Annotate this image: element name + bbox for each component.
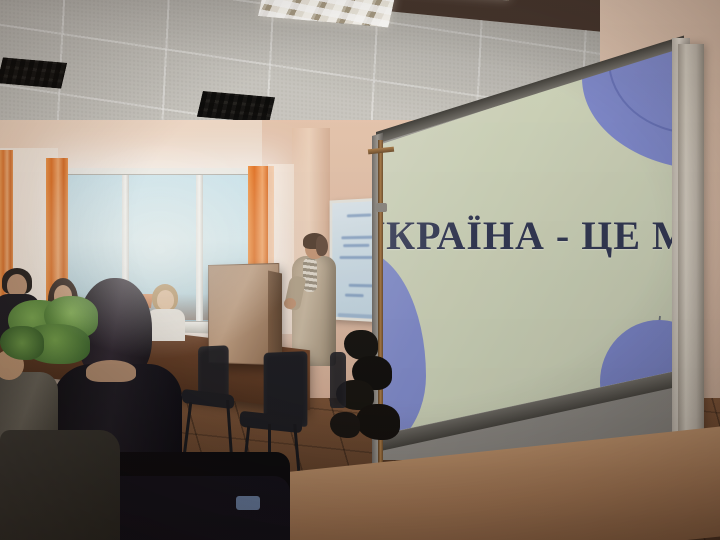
whiteboard-writing (340, 256, 374, 259)
attendee-head (157, 290, 174, 310)
ceiling-light-fixture (399, 0, 515, 1)
ceiling-vent-grille (0, 57, 67, 88)
whiteboard-writing (349, 284, 374, 288)
foreground-attendee-lower-body (0, 430, 120, 540)
small-object-on-desk (236, 496, 260, 510)
plant-foliage (0, 326, 44, 360)
plant-foliage (356, 404, 400, 440)
plant-foliage (330, 412, 360, 438)
attendee-torso (147, 309, 185, 341)
wall-pillar (678, 44, 704, 474)
presenter-hair (316, 236, 328, 256)
whiteboard-writing (343, 244, 369, 247)
whiteboard-writing (345, 294, 364, 298)
whiteboard-writing (341, 236, 373, 240)
presenter-hand (284, 298, 296, 309)
whiteboard-writing (347, 213, 371, 217)
slide-title: УКРАЇНА - ЦЕ МИ ! (372, 212, 690, 259)
projection-screen: УКРАЇНА - ЦЕ МИ ! (372, 40, 692, 470)
pole-clamp (376, 203, 387, 212)
chair-back (330, 352, 346, 408)
attendee-shoulder-skin (86, 360, 136, 382)
presenter-scarf (303, 258, 317, 292)
lectern-side (268, 271, 282, 364)
classroom-photo-scene: УКРАЇНА - ЦЕ МИ ! (0, 0, 720, 540)
